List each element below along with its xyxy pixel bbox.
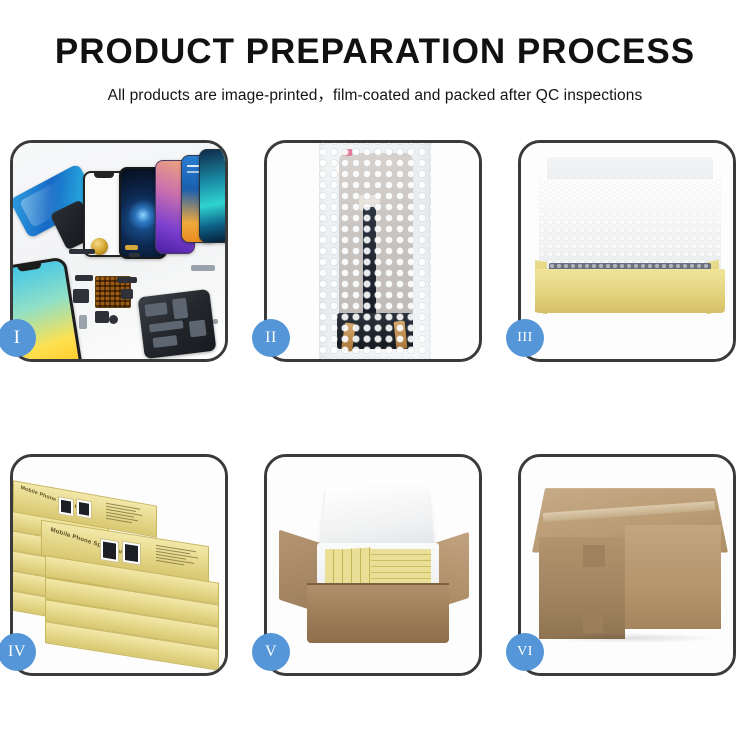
- page-header: PRODUCT PREPARATION PROCESS All products…: [0, 0, 750, 105]
- step-badge-5: V: [252, 633, 290, 671]
- speaker-part: [95, 311, 109, 323]
- page-subtitle: All products are image-printed，film-coat…: [0, 83, 750, 105]
- box-stack: Mobile Phone Spare Parts: [13, 457, 225, 673]
- page-title: PRODUCT PREPARATION PROCESS: [0, 34, 750, 69]
- flex-cable-part: [69, 249, 95, 254]
- carton-tab-lower: [583, 615, 603, 633]
- yellow-boxes-inside-left: [325, 547, 371, 586]
- box-window-front-a: [100, 538, 119, 563]
- foam-lid-open: [319, 488, 434, 549]
- gold-connector-part: [125, 245, 138, 250]
- step-panel-5[interactable]: V: [264, 454, 482, 676]
- step-image-4: Mobile Phone Spare Parts: [13, 457, 225, 673]
- button-flex-part: [129, 253, 140, 257]
- camera-module-part: [73, 289, 89, 303]
- box-window-back-a: [58, 496, 74, 517]
- carton-front-panel: [307, 585, 449, 643]
- box-spec-lines-back: [106, 503, 146, 528]
- vibrator-part: [109, 315, 118, 324]
- step-badge-6: VI: [506, 633, 544, 671]
- tweezers-tool: [191, 265, 215, 271]
- bubble-texture: [319, 143, 431, 359]
- yellow-kraft-tray: [535, 269, 725, 313]
- phone-chassis-disassembled: [137, 289, 216, 359]
- process-row-2: Mobile Phone Spare Parts: [0, 454, 750, 676]
- ribbon-cable-part: [117, 277, 137, 283]
- carton-right-face: [625, 525, 721, 629]
- step-panel-6[interactable]: VI: [518, 454, 736, 676]
- phone-screen-teal: [199, 149, 225, 243]
- step-image-6: [521, 457, 733, 673]
- carton-left-face: [539, 537, 625, 639]
- box-window-front-b: [122, 541, 141, 566]
- step-image-1: [13, 143, 225, 359]
- step-image-5: [267, 457, 479, 673]
- carton-tab-upper: [583, 545, 605, 567]
- box-window-back-b: [76, 498, 92, 519]
- sim-tray-part: [79, 315, 87, 329]
- ic-chip-part: [121, 289, 133, 299]
- process-row-1: I II: [0, 140, 750, 362]
- process-grid: I II: [0, 140, 750, 676]
- step-panel-3[interactable]: III: [518, 140, 736, 362]
- step-badge-3: III: [506, 319, 544, 357]
- step-image-3: [521, 143, 733, 359]
- screw-part-b: [213, 319, 218, 324]
- step-badge-2: II: [252, 319, 290, 357]
- bubble-wrap-bag: [319, 143, 431, 359]
- carton-shadow: [543, 633, 719, 643]
- step-panel-2[interactable]: II: [264, 140, 482, 362]
- step-image-2: [267, 143, 479, 359]
- box-spec-lines-front: [156, 545, 202, 570]
- step-panel-1[interactable]: I: [10, 140, 228, 362]
- step-panel-4[interactable]: Mobile Phone Spare Parts: [10, 454, 228, 676]
- small-module-part: [75, 275, 93, 281]
